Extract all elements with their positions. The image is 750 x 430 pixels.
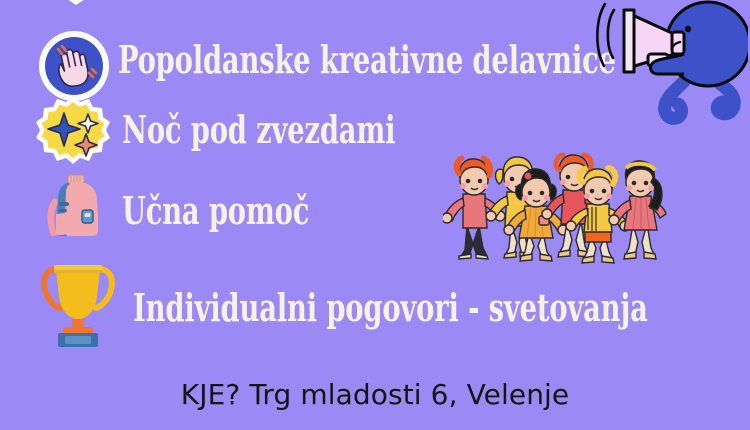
megaphone-character-illustration (588, 0, 748, 135)
trophy-icon (33, 253, 123, 354)
sparkle-badge-icon (34, 94, 112, 177)
poster-canvas: Popoldanske kreativne delavnice Noč pod … (0, 0, 750, 430)
list-item-label: Učna pomoč (122, 188, 309, 233)
list-item-label: Popoldanske kreativne delavnice (118, 37, 616, 82)
list-item-label: Individualni pogovori - svetovanja (133, 285, 648, 330)
backpack-icon (40, 172, 112, 249)
footer-address-text: KJE? Trg mladosti 6, Velenje (0, 378, 750, 411)
list-item-label: Noč pod zvezdami (122, 107, 395, 152)
children-holding-hands-illustration (443, 152, 667, 269)
